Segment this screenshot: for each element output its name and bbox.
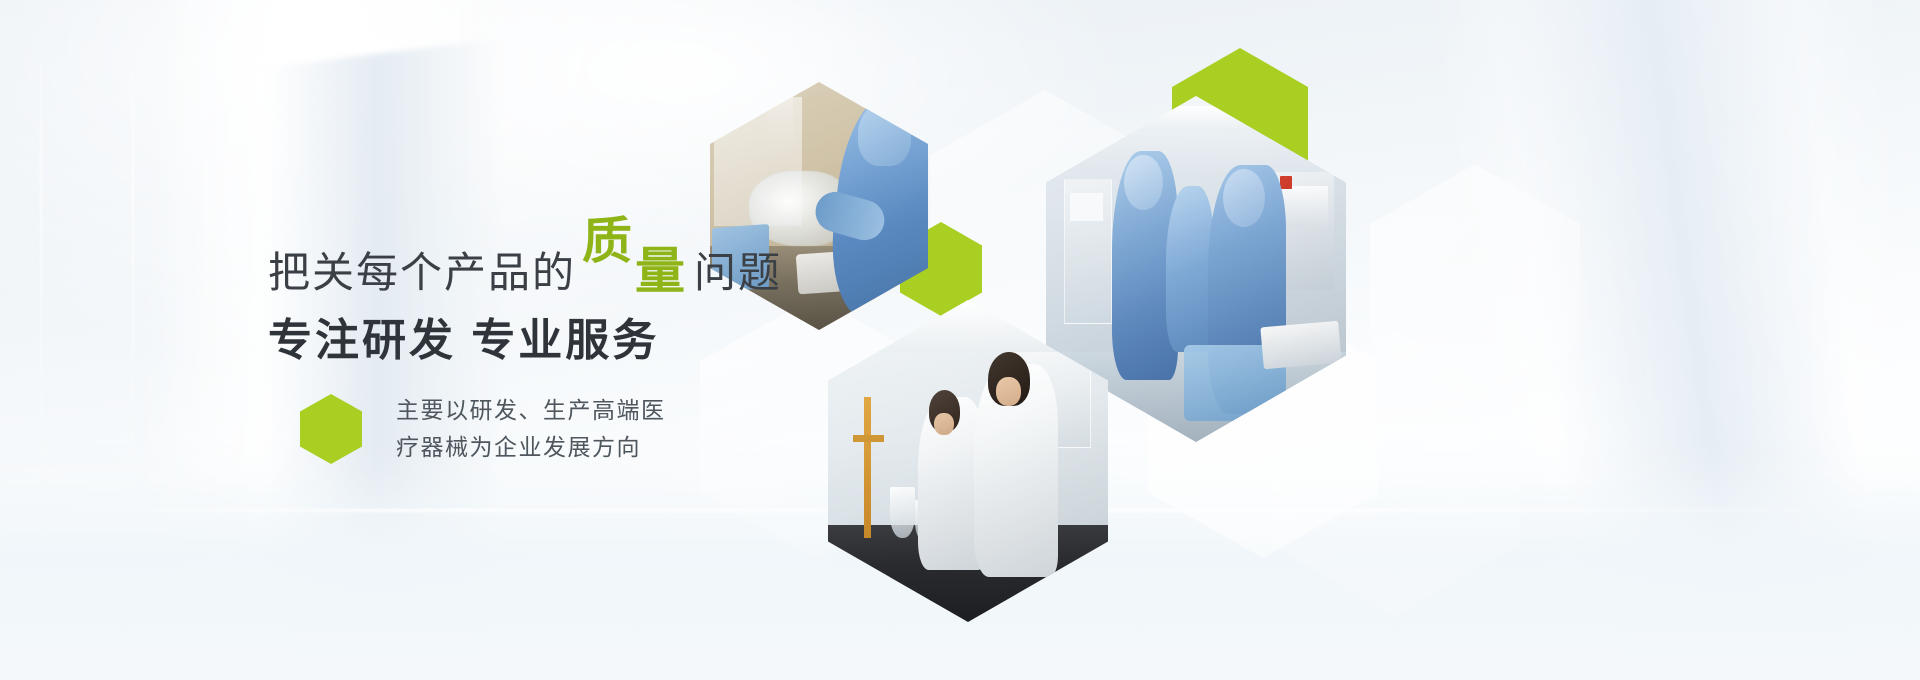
headline-highlight-zhi: 质: [582, 216, 633, 266]
headline-part-1: 把关每个产品的: [268, 252, 576, 294]
hero-banner: 把关每个产品的 质 量 问题 专注研发 专业服务 主要以研发、生产高端医 疗器械…: [0, 0, 1920, 680]
headline-block: 把关每个产品的 质 量 问题 专注研发 专业服务: [268, 228, 968, 368]
headline-highlight-liang: 量: [635, 246, 686, 296]
headline-line-2: 专注研发 专业服务: [268, 304, 968, 368]
hexagon-bullet-icon: [300, 394, 362, 464]
description-row: 主要以研发、生产高端医 疗器械为企业发展方向: [300, 388, 666, 467]
headline-line-1: 把关每个产品的 质 量 问题: [268, 228, 968, 290]
description-text: 主要以研发、生产高端医 疗器械为企业发展方向: [396, 388, 666, 467]
headline-part-2: 问题: [694, 252, 782, 294]
